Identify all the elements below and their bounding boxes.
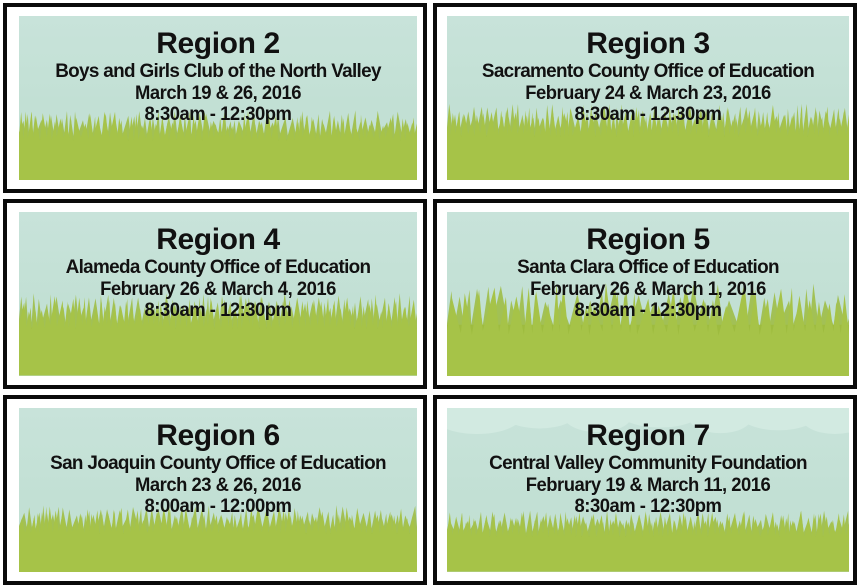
banner-artwork-region-4: Region 4Alameda County Office of Educati… — [19, 212, 417, 376]
event-dates: March 23 & 26, 2016 — [29, 476, 407, 495]
banner-cell-region-6: Region 6San Joaquin County Office of Edu… — [0, 392, 430, 588]
region-title: Region 5 — [451, 225, 845, 255]
event-time: 8:30am - 12:30pm — [29, 301, 407, 320]
banner-grid: Region 2Boys and Girls Club of the North… — [0, 0, 860, 588]
banner-artwork-region-6: Region 6San Joaquin County Office of Edu… — [19, 408, 417, 572]
organization-name: Central Valley Community Foundation — [457, 454, 839, 474]
event-dates: February 26 & March 4, 2016 — [29, 280, 407, 299]
banner-cell-region-2: Region 2Boys and Girls Club of the North… — [0, 0, 430, 196]
banner-artwork-region-2: Region 2Boys and Girls Club of the North… — [19, 16, 417, 180]
banner-cell-region-5: Region 5Santa Clara Office of EducationF… — [430, 196, 860, 392]
banner-cell-region-7: Region 7Central Valley Community Foundat… — [430, 392, 860, 588]
organization-name: Boys and Girls Club of the North Valley — [29, 62, 407, 82]
event-dates: February 24 & March 23, 2016 — [457, 84, 839, 103]
banner-text-block: Region 6San Joaquin County Office of Edu… — [19, 421, 417, 516]
organization-name: Alameda County Office of Education — [29, 258, 407, 278]
event-dates: March 19 & 26, 2016 — [29, 84, 407, 103]
event-dates: February 19 & March 11, 2016 — [457, 476, 839, 495]
event-time: 8:30am - 12:30pm — [457, 497, 839, 516]
banner-frame: Region 3Sacramento County Office of Educ… — [433, 3, 857, 193]
banner-text-block: Region 7Central Valley Community Foundat… — [447, 421, 849, 516]
region-title: Region 6 — [23, 421, 413, 451]
banner-cell-region-4: Region 4Alameda County Office of Educati… — [0, 196, 430, 392]
region-title: Region 4 — [23, 225, 413, 255]
event-dates: February 26 & March 1, 2016 — [457, 280, 839, 299]
region-title: Region 3 — [451, 29, 845, 59]
event-time: 8:30am - 12:30pm — [29, 105, 407, 124]
region-title: Region 2 — [23, 29, 413, 59]
event-time: 8:30am - 12:30pm — [457, 301, 839, 320]
banner-frame: Region 6San Joaquin County Office of Edu… — [3, 395, 427, 585]
banner-artwork-region-3: Region 3Sacramento County Office of Educ… — [447, 16, 849, 180]
banner-text-block: Region 4Alameda County Office of Educati… — [19, 225, 417, 320]
organization-name: San Joaquin County Office of Education — [29, 454, 407, 474]
region-title: Region 7 — [451, 421, 845, 451]
banner-frame: Region 2Boys and Girls Club of the North… — [3, 3, 427, 193]
banner-text-block: Region 5Santa Clara Office of EducationF… — [447, 225, 849, 320]
organization-name: Sacramento County Office of Education — [457, 62, 839, 82]
banner-frame: Region 4Alameda County Office of Educati… — [3, 199, 427, 389]
banner-text-block: Region 2Boys and Girls Club of the North… — [19, 29, 417, 124]
banner-frame: Region 7Central Valley Community Foundat… — [433, 395, 857, 585]
banner-cell-region-3: Region 3Sacramento County Office of Educ… — [430, 0, 860, 196]
banner-text-block: Region 3Sacramento County Office of Educ… — [447, 29, 849, 124]
event-time: 8:30am - 12:30pm — [457, 105, 839, 124]
organization-name: Santa Clara Office of Education — [457, 258, 839, 278]
banner-frame: Region 5Santa Clara Office of EducationF… — [433, 199, 857, 389]
event-time: 8:00am - 12:00pm — [29, 497, 407, 516]
banner-artwork-region-7: Region 7Central Valley Community Foundat… — [447, 408, 849, 572]
banner-artwork-region-5: Region 5Santa Clara Office of EducationF… — [447, 212, 849, 376]
